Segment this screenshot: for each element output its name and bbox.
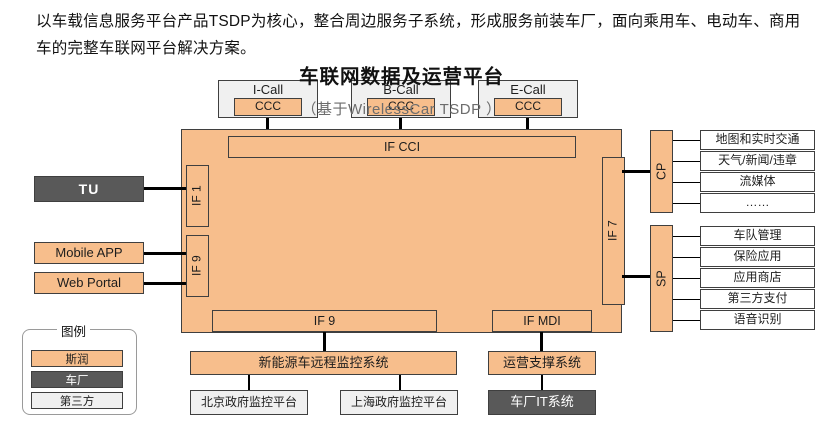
interface-label: IF 1 xyxy=(191,186,205,207)
connector-cp-item-2 xyxy=(673,182,701,183)
connector-ifmdi-to-oss xyxy=(540,332,543,352)
bottom-child-label: 上海政府监控平台 xyxy=(351,396,447,410)
legend-item-label: 车厂 xyxy=(66,372,89,388)
connector-cp-item-1 xyxy=(673,161,701,162)
cp-item-label: 地图和实时交通 xyxy=(715,133,799,147)
bottom-system-label: 运营支撑系统 xyxy=(503,356,581,371)
bottom-child-beijing[interactable]: 北京政府监控平台 xyxy=(190,390,308,415)
connector-sp-item-4 xyxy=(673,320,701,321)
group-label: CP xyxy=(654,163,668,180)
sp-item-label: 车队管理 xyxy=(733,229,781,243)
connector-cp-item-0 xyxy=(673,140,701,141)
connector-nev-to-shanghai xyxy=(399,375,401,391)
connector-sp-item-3 xyxy=(673,299,701,300)
cp-item-1[interactable]: 天气/新闻/违章 xyxy=(700,151,815,171)
connector-sp-item-0 xyxy=(673,236,701,237)
group-label: SP xyxy=(654,270,668,287)
bottom-child-oem-it[interactable]: 车厂IT系统 xyxy=(488,390,596,415)
sp-item-label: 语音识别 xyxy=(733,313,781,327)
interface-label: IF 9 xyxy=(191,256,205,277)
connector-if7-to-cp xyxy=(622,170,651,173)
legend-item-label: 斯润 xyxy=(66,351,89,367)
bottom-system-label: 新能源车远程监控系统 xyxy=(258,356,388,371)
connector-if9-to-nev-system xyxy=(323,332,326,352)
connector-nev-to-beijing xyxy=(248,375,250,391)
platform-title: 车联网数据及运营平台 xyxy=(181,60,622,89)
client-box-mobile-app[interactable]: Mobile APP xyxy=(34,242,144,264)
connector-if7-to-sp xyxy=(622,275,651,278)
cp-item-label: …… xyxy=(746,196,770,210)
group-box-cp[interactable]: CP xyxy=(650,130,673,213)
sp-item-0[interactable]: 车队管理 xyxy=(700,226,815,246)
sp-item-4[interactable]: 语音识别 xyxy=(700,310,815,330)
interface-if-9-left[interactable]: IF 9 xyxy=(186,235,209,297)
main-platform-panel xyxy=(181,129,622,333)
interface-label: IF 9 xyxy=(314,314,336,328)
sp-item-label: 保险应用 xyxy=(733,250,781,264)
client-label: Mobile APP xyxy=(55,246,122,261)
sp-item-3[interactable]: 第三方支付 xyxy=(700,289,815,309)
cp-item-label: 流媒体 xyxy=(739,175,775,189)
bottom-system-oss[interactable]: 运营支撑系统 xyxy=(488,351,596,375)
intro-paragraph: 以车载信息服务平台产品TSDP为核心，整合周边服务子系统，形成服务前装车厂，面向… xyxy=(36,8,806,62)
cp-item-3[interactable]: …… xyxy=(700,193,815,213)
client-box-web-portal[interactable]: Web Portal xyxy=(34,272,144,294)
interface-if-1[interactable]: IF 1 xyxy=(186,165,209,227)
interface-if-cci[interactable]: IF CCI xyxy=(228,136,576,158)
legend-item-label: 第三方 xyxy=(60,393,95,409)
connector-mobileapp-to-if9 xyxy=(144,252,186,255)
sp-item-label: 应用商店 xyxy=(733,271,781,285)
interface-if-9-bottom[interactable]: IF 9 xyxy=(212,310,437,332)
interface-label: IF 7 xyxy=(607,221,621,242)
connector-oss-to-oem-it xyxy=(541,375,543,391)
connector-tu-to-if1 xyxy=(144,187,186,190)
connector-sp-item-1 xyxy=(673,257,701,258)
cp-item-0[interactable]: 地图和实时交通 xyxy=(700,130,815,150)
platform-subtitle: （基于WirelessCar TSDP ） xyxy=(181,98,622,119)
connector-webportal-to-if9 xyxy=(144,282,186,285)
interface-label: IF CCI xyxy=(384,140,420,154)
cp-item-label: 天气/新闻/违章 xyxy=(718,154,797,168)
interface-if-mdi[interactable]: IF MDI xyxy=(492,310,592,332)
sp-item-label: 第三方支付 xyxy=(727,292,787,306)
diagram-canvas: 以车载信息服务平台产品TSDP为核心，整合周边服务子系统，形成服务前装车厂，面向… xyxy=(0,0,822,426)
client-box-tu[interactable]: TU xyxy=(34,176,144,202)
interface-if-7[interactable]: IF 7 xyxy=(602,157,625,305)
legend-title: 图例 xyxy=(57,321,90,340)
bottom-child-label: 北京政府监控平台 xyxy=(201,396,297,410)
sp-item-2[interactable]: 应用商店 xyxy=(700,268,815,288)
legend-item-oem: 车厂 xyxy=(31,371,123,388)
bottom-child-label: 车厂IT系统 xyxy=(510,395,574,410)
interface-label: IF MDI xyxy=(523,314,561,328)
group-box-sp[interactable]: SP xyxy=(650,225,673,332)
connector-cp-item-3 xyxy=(673,203,701,204)
bottom-child-shanghai[interactable]: 上海政府监控平台 xyxy=(340,390,458,415)
cp-item-2[interactable]: 流媒体 xyxy=(700,172,815,192)
bottom-system-nev[interactable]: 新能源车远程监控系统 xyxy=(190,351,457,375)
legend-item-third-party: 第三方 xyxy=(31,392,123,409)
legend-panel: 图例 斯润 车厂 第三方 xyxy=(22,329,137,415)
client-label: Web Portal xyxy=(57,276,121,291)
legend-item-sirun: 斯润 xyxy=(31,350,123,367)
sp-item-1[interactable]: 保险应用 xyxy=(700,247,815,267)
connector-sp-item-2 xyxy=(673,278,701,279)
client-label: TU xyxy=(79,181,100,197)
